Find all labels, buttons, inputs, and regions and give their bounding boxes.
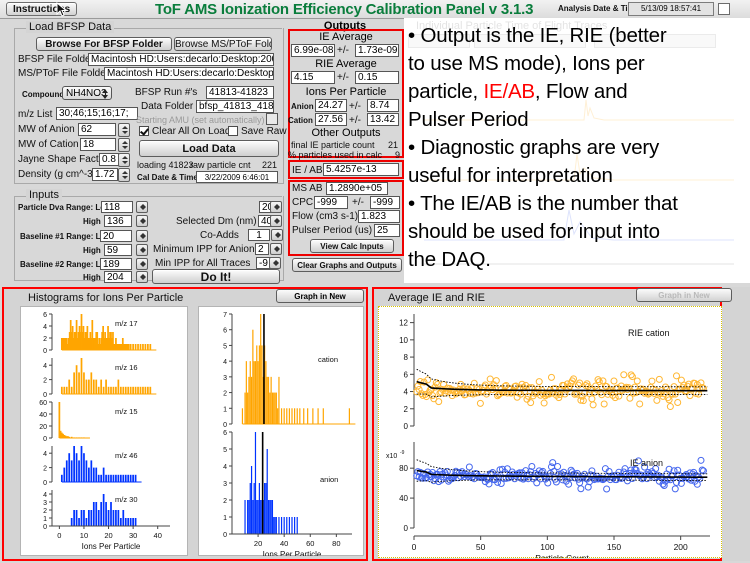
final-particle-count-value: 21 (388, 140, 398, 150)
annotation-line-6: useful for interpretation (408, 162, 748, 190)
data-folder-field[interactable]: bfsp_41813_41823 (196, 100, 274, 113)
svg-text:m/z 17: m/z 17 (115, 319, 138, 328)
cpc-pm: +/- (352, 197, 364, 208)
svg-text:m/z 30: m/z 30 (115, 495, 138, 504)
svg-text:40: 40 (154, 531, 162, 540)
svg-text:2: 2 (43, 466, 47, 473)
ie-average-field[interactable]: 6.99e-08 (291, 44, 335, 57)
compound-select[interactable]: NH4NO3 (62, 86, 112, 100)
annotation-text: • Output is the IE, RIE (better to use M… (408, 22, 748, 274)
svg-text:0: 0 (43, 392, 47, 399)
dva-range-high-field[interactable]: 136 (104, 215, 132, 227)
svg-text:40: 40 (280, 539, 288, 548)
anion-ipp-error-field[interactable]: 8.74 (367, 99, 399, 112)
baseline2-high-stepper[interactable] (136, 271, 148, 283)
annotation-line-3: particle, IE/AB, Flow and (408, 78, 748, 106)
dva-range-low-label: Particle Dva Range: Low (18, 203, 111, 212)
svg-text:6: 6 (223, 430, 227, 437)
starting-amu-label: Starting AMU (set automatically) (136, 115, 265, 125)
ie-ab-field[interactable]: 5.4257e-13 (323, 163, 399, 176)
ie-average-pm: +/- (337, 45, 349, 56)
svg-text:m/z 46: m/z 46 (115, 451, 138, 460)
svg-text:6: 6 (404, 370, 409, 379)
percent-used-label: % particles used in calc (288, 150, 382, 160)
ie-average-label: IE Average (288, 31, 404, 43)
svg-text:Ions Per Particle: Ions Per Particle (82, 542, 141, 551)
svg-text:60: 60 (39, 400, 47, 407)
mz-list-label: m/z List (18, 109, 52, 120)
percent-used-value: 9 (395, 150, 400, 160)
baseline2-low-label: Baseline #2 Range: Low (20, 260, 112, 269)
density-label: Density (g cm^-3) (18, 169, 96, 180)
browse-msptof-folder-button[interactable]: Browse MS/PToF Folder (174, 37, 272, 51)
msptof-folder-label: MS/PToF File Folder (18, 68, 109, 79)
svg-text:1: 1 (43, 516, 47, 523)
mw-cation-label: MW of Cation (18, 139, 79, 150)
updown-arrows-icon (101, 89, 109, 99)
svg-text:20: 20 (39, 424, 47, 431)
run-numbers-field[interactable]: 41813-41823 (206, 86, 274, 99)
flow-label: Flow (cm3 s-1) (292, 211, 358, 222)
page-title: ToF AMS Ionization Efficiency Calibratio… (155, 1, 555, 18)
anion-label: Anion (291, 102, 314, 111)
svg-text:Ions Per Particle: Ions Per Particle (263, 550, 322, 556)
histograms-panel-title: Histograms for Ions Per Particle (28, 292, 183, 304)
save-raw-checkbox[interactable] (228, 126, 238, 136)
load-bfsp-title: Load BFSP Data (26, 21, 114, 33)
svg-text:0: 0 (404, 524, 409, 533)
annotation-ieab-highlight: IE/AB (483, 80, 534, 103)
analysis-checkbox[interactable] (718, 3, 730, 15)
view-calc-inputs-button[interactable]: View Calc Inputs (310, 239, 394, 253)
ions-per-particle-label: Ions Per Particle (288, 86, 404, 98)
jayne-shape-label: Jayne Shape Factor (18, 154, 108, 165)
baseline1-low-field[interactable]: 20 (100, 230, 132, 242)
svg-text:4: 4 (223, 464, 227, 471)
ms-ab-label: MS AB (292, 183, 323, 194)
svg-text:40: 40 (399, 494, 408, 503)
svg-text:0: 0 (412, 542, 417, 552)
clear-all-on-load-label: Clear All On Load (152, 126, 230, 137)
compound-label: Compound (22, 90, 64, 99)
baseline1-high-label: High (83, 246, 101, 255)
starting-amu-field[interactable] (266, 113, 278, 125)
cation-pm: +/- (349, 115, 361, 126)
svg-text:3: 3 (223, 375, 227, 382)
svg-text:10: 10 (399, 336, 408, 345)
baseline2-low-field[interactable]: 189 (100, 258, 132, 270)
svg-text:RIE cation: RIE cation (628, 328, 670, 338)
svg-text:0: 0 (57, 531, 61, 540)
min-ipp-anion-label: Minimum IPP for Anion (153, 244, 255, 255)
other-outputs-label: Other Outputs (288, 127, 404, 139)
clear-graphs-outputs-button[interactable]: Clear Graphs and Outputs (292, 258, 402, 272)
svg-text:2: 2 (223, 391, 227, 398)
svg-text:m/z 16: m/z 16 (115, 363, 138, 372)
cation-ipp-field[interactable]: 27.56 (315, 113, 347, 126)
min-ipp-all-label: Min IPP for All Traces (155, 258, 250, 269)
svg-text:10: 10 (80, 531, 88, 540)
mw-cation-stepper[interactable] (118, 138, 130, 152)
svg-text:2: 2 (43, 336, 47, 343)
annotation-line-3-tail: , Flow and (535, 80, 628, 103)
svg-text:8: 8 (404, 353, 409, 362)
histograms-graph-new-window-button[interactable]: Graph in New Window (276, 289, 364, 303)
min-ipp-anion-field[interactable]: 2 (255, 243, 269, 255)
svg-text:1: 1 (223, 515, 227, 522)
selected-dm-stepper[interactable] (270, 215, 282, 227)
mw-cation-field[interactable]: 18 (80, 138, 116, 151)
annotation-line-3-head: particle, (408, 80, 483, 103)
annotation-line-7: • The IE/AB is the number that (408, 190, 748, 218)
svg-text:4: 4 (404, 388, 409, 397)
svg-text:6: 6 (223, 328, 227, 335)
load-data-button[interactable]: Load Data (139, 140, 279, 157)
jayne-shape-field[interactable]: 0.8 (99, 153, 119, 166)
rie-average-pm: +/- (337, 72, 349, 83)
svg-text:2: 2 (43, 378, 47, 385)
svg-text:4: 4 (223, 359, 227, 366)
annotation-line-1: • Output is the IE, RIE (better (408, 22, 748, 50)
svg-text:IE anion: IE anion (630, 458, 663, 468)
ie-ab-label: IE / AB (292, 165, 323, 176)
baseline2-high-label: High (83, 273, 101, 282)
dva-range-low-field[interactable]: 118 (101, 201, 133, 213)
svg-text:5: 5 (223, 343, 227, 350)
svg-text:80: 80 (399, 464, 408, 473)
coadds-label: Co-Adds (200, 230, 239, 241)
density-field[interactable]: 1.72 (92, 168, 118, 181)
baseline2-low-stepper[interactable] (136, 258, 148, 270)
scatter-svg: 024681012RIE cation04080IE anionx10-9050… (378, 306, 722, 558)
ms-ab-field[interactable]: 1.2890e+05 (326, 182, 388, 195)
msptof-folder-field[interactable]: Macintosh HD:Users:decarlo:Desktop:200 (104, 67, 274, 80)
mw-anion-stepper[interactable] (118, 123, 130, 137)
cpc-error-field[interactable]: -999 (370, 196, 400, 209)
load-status-text: loading 41823 (137, 160, 194, 170)
svg-text:2: 2 (404, 405, 409, 414)
scatter-panel-title: Average IE and RIE (388, 292, 485, 304)
svg-text:40: 40 (39, 412, 47, 419)
baseline1-low-stepper[interactable] (136, 230, 148, 242)
svg-text:0: 0 (43, 436, 47, 443)
baseline1-high-stepper[interactable] (136, 244, 148, 256)
svg-text:4: 4 (43, 451, 47, 458)
svg-text:150: 150 (607, 542, 621, 552)
svg-text:2: 2 (223, 498, 227, 505)
dva-range-high-stepper[interactable] (136, 215, 148, 227)
annotation-overlay: Individual Particle Time of Flight Trace… (404, 18, 750, 283)
cpc-label: CPC (292, 197, 313, 208)
density-stepper[interactable] (118, 168, 130, 182)
cpc-field[interactable]: -999 (314, 196, 348, 209)
selected-dm-label: Selected Dm (nm) (176, 216, 257, 227)
pulser-period-label: Pulser Period (us) (292, 225, 372, 236)
svg-text:200: 200 (674, 542, 688, 552)
svg-text:anion: anion (320, 475, 338, 484)
rie-average-label: RIE Average (288, 58, 404, 70)
annotation-line-5: • Diagnostic graphs are very (408, 134, 748, 162)
svg-text:30: 30 (129, 531, 137, 540)
single-ion-stepper[interactable] (270, 201, 282, 213)
svg-text:4: 4 (43, 324, 47, 331)
inputs-title: Inputs (26, 189, 62, 201)
baseline1-high-field[interactable]: 59 (104, 244, 132, 256)
svg-text:4: 4 (43, 492, 47, 499)
svg-text:2: 2 (43, 508, 47, 515)
mw-anion-label: MW of Anion (18, 124, 75, 135)
baseline2-high-field[interactable]: 204 (104, 271, 132, 283)
svg-text:0: 0 (43, 348, 47, 355)
clear-all-on-load-checkbox[interactable] (139, 126, 149, 136)
pulser-period-field[interactable]: 25 (374, 224, 400, 237)
annotation-line-2: to use MS mode), Ions per (408, 50, 748, 78)
ie-average-error-field[interactable]: 1.73e-09 (355, 44, 399, 57)
flow-field[interactable]: 1.823 (358, 210, 400, 223)
cal-date-label: Cal Date & Time (137, 173, 198, 182)
svg-text:100: 100 (540, 542, 554, 552)
svg-text:20: 20 (104, 531, 112, 540)
bfsp-folder-label: BFSP File Folder (18, 54, 94, 65)
mw-anion-field[interactable]: 62 (78, 123, 116, 136)
cation-label: Cation (288, 116, 313, 125)
annotation-line-4: Pulser Period (408, 106, 748, 134)
mz-list-field[interactable]: 30;46;15;16;17; (56, 107, 138, 120)
dva-range-low-stepper[interactable] (136, 201, 148, 213)
svg-text:m/z 15: m/z 15 (115, 407, 138, 416)
cation-ipp-error-field[interactable]: 13.42 (367, 113, 399, 126)
svg-text:5: 5 (223, 447, 227, 454)
scatter-graph-new-window-button[interactable]: Graph in New Window (636, 288, 732, 302)
dva-range-high-label: High (83, 217, 101, 226)
min-ipp-anion-stepper[interactable] (270, 243, 282, 255)
rie-average-field[interactable]: 4.15 (291, 71, 335, 84)
svg-text:3: 3 (223, 481, 227, 488)
coadds-field[interactable]: 1 (248, 229, 270, 241)
raw-count-value: 221 (262, 160, 277, 170)
svg-text:12: 12 (399, 319, 408, 328)
svg-text:0: 0 (223, 422, 227, 429)
cal-date-field[interactable]: 3/22/2009 6:46:01 (196, 171, 278, 183)
bfsp-folder-field[interactable]: Macintosh HD:Users:decarlo:Desktop:2009-… (88, 53, 274, 66)
svg-text:cation: cation (318, 355, 338, 364)
save-raw-label: Save Raw (241, 126, 287, 137)
histograms-left-svg: 0246m/z 17024m/z 160204060m/z 15024m/z 4… (20, 306, 188, 556)
svg-text:x10: x10 (386, 453, 397, 460)
svg-text:0: 0 (223, 532, 227, 539)
svg-text:80: 80 (332, 539, 340, 548)
svg-text:1: 1 (223, 406, 227, 413)
run-numbers-label: BFSP Run #'s (135, 87, 197, 98)
final-particle-count-label: final IE particle count (291, 140, 375, 150)
coadds-stepper[interactable] (271, 229, 283, 241)
data-folder-label: Data Folder (141, 101, 193, 112)
baseline1-low-label: Baseline #1 Range: Low (20, 232, 112, 241)
do-it-button[interactable]: Do It! (152, 269, 280, 284)
svg-text:-9: -9 (400, 450, 405, 456)
annotation-line-9: the DAQ. (408, 246, 748, 274)
min-ipp-all-stepper[interactable] (269, 257, 281, 269)
svg-text:6: 6 (43, 312, 47, 319)
jayne-shape-stepper[interactable] (118, 153, 130, 167)
svg-text:60: 60 (306, 539, 314, 548)
svg-text:3: 3 (43, 500, 47, 507)
svg-text:Particle Count: Particle Count (535, 553, 589, 558)
anion-pm: +/- (349, 101, 361, 112)
rie-average-error-field[interactable]: 0.15 (355, 71, 399, 84)
analysis-date-field[interactable]: 5/13/09 18:57:41 (628, 2, 714, 16)
svg-text:0: 0 (43, 524, 47, 531)
anion-ipp-field[interactable]: 24.27 (315, 99, 347, 112)
browse-bfsp-folder-button[interactable]: Browse For BFSP Folder (36, 37, 172, 51)
svg-text:7: 7 (223, 312, 227, 319)
svg-text:20: 20 (254, 539, 262, 548)
raw-count-label: raw particle cnt (190, 160, 251, 170)
svg-text:0: 0 (404, 422, 409, 431)
svg-text:4: 4 (43, 363, 47, 370)
svg-text:50: 50 (476, 542, 486, 552)
annotation-line-8: should be used for input into (408, 218, 748, 246)
histograms-right-svg: 01234567cation0123456anion20406080Ions P… (198, 306, 364, 556)
svg-text:0: 0 (43, 480, 47, 487)
